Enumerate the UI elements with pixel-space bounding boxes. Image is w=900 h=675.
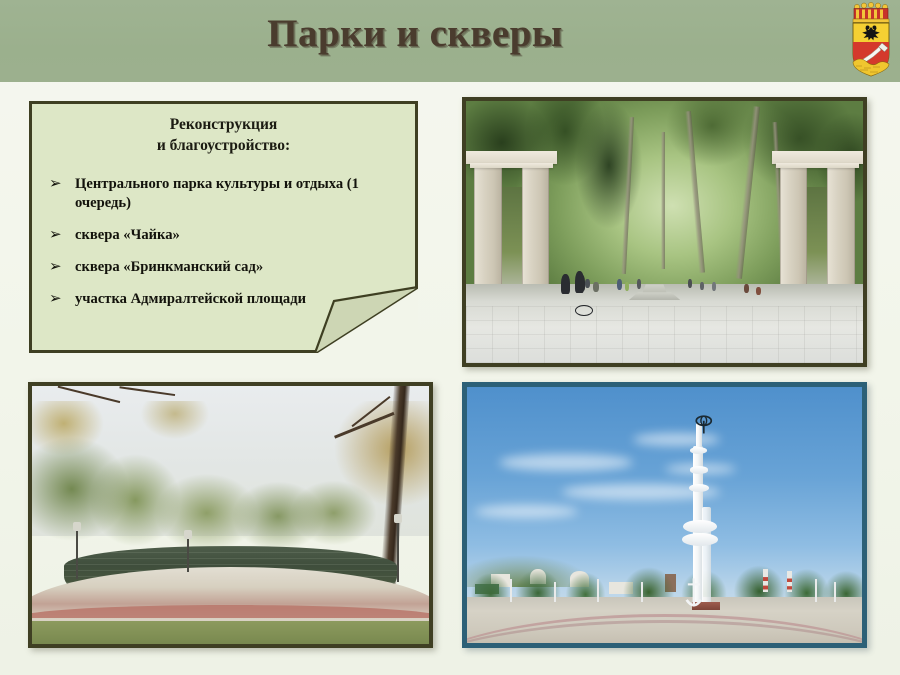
- reconstruction-list: ➢ Центрального парка культуры и отдыха (…: [43, 175, 404, 309]
- finial-icon: [686, 411, 722, 434]
- callout-content: Реконструкция и благоустройство: ➢ Центр…: [29, 101, 418, 353]
- photo-pond: [28, 382, 433, 648]
- arrow-bullet-icon: ➢: [49, 289, 62, 309]
- list-item-label: участка Адмиралтейской площади: [75, 291, 306, 307]
- header-band: Парки и скверы: [0, 0, 900, 82]
- list-item-label: Центрального парка культуры и отдыха (1 …: [75, 176, 359, 211]
- list-item-label: сквера «Чайка»: [75, 227, 180, 243]
- arrow-bullet-icon: ➢: [49, 174, 62, 194]
- callout-heading: Реконструкция и благоустройство:: [43, 115, 404, 157]
- list-item: ➢ сквера «Бринкманский сад»: [43, 258, 404, 277]
- page-title: Парки и скверы: [0, 11, 830, 56]
- arrow-bullet-icon: ➢: [49, 225, 62, 245]
- slide-root: Парки и скверы: [0, 0, 900, 675]
- coat-of-arms-icon: [848, 2, 894, 78]
- photo-admiralty: [462, 382, 867, 648]
- callout-heading-line1: Реконструкция: [170, 116, 278, 133]
- list-item: ➢ Центрального парка культуры и отдыха (…: [43, 175, 404, 213]
- photo-park-entrance: [462, 97, 867, 367]
- list-item: ➢ сквера «Чайка»: [43, 226, 404, 245]
- arrow-bullet-icon: ➢: [49, 257, 62, 277]
- callout-heading-line2: и благоустройство:: [157, 137, 290, 154]
- list-item: ➢ участка Адмиралтейской площади: [43, 290, 404, 309]
- list-item-label: сквера «Бринкманский сад»: [75, 259, 263, 275]
- anchor-icon: [678, 576, 710, 612]
